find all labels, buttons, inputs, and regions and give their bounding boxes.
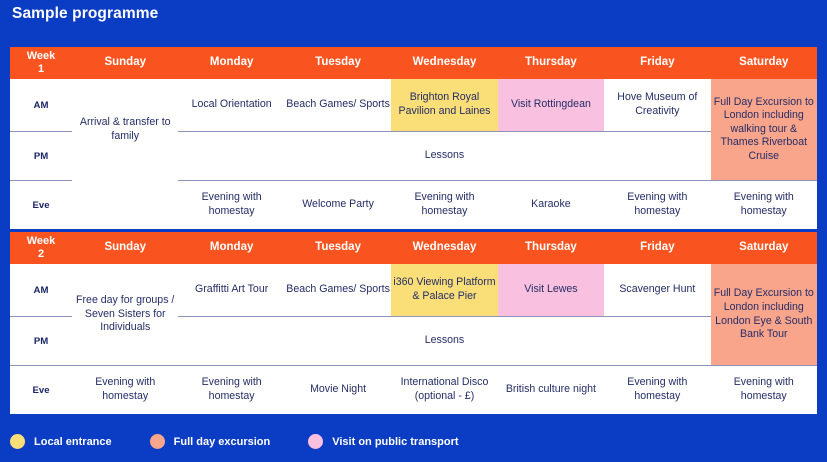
week1-slot-eve: Eve (10, 181, 72, 230)
week2-label-line1: Week (27, 235, 56, 247)
week1-slot-am: AM (10, 79, 72, 132)
week1-col-saturday: Saturday (711, 47, 817, 79)
week2-eve-sunday: Evening with homestay (72, 366, 178, 415)
week2-col-tuesday: Tuesday (285, 232, 391, 264)
week2-row-am: AM Free day for groups / Seven Sisters f… (10, 264, 817, 317)
week2-slot-pm: PM (10, 317, 72, 366)
week1-eve-thursday: Karaoke (498, 181, 604, 230)
week1-eve-wednesday: Evening with homestay (391, 181, 497, 230)
week2-col-sunday: Sunday (72, 232, 178, 264)
page-title: Sample programme (12, 5, 158, 23)
week2-am-thursday: Visit Lewes (498, 264, 604, 317)
week1-row-am: AM Arrival & transfer to family Local Or… (10, 79, 817, 132)
week1-label-line2: 1 (38, 63, 44, 75)
week2-col-wednesday: Wednesday (391, 232, 497, 264)
legend-dot-public-transport (308, 434, 323, 449)
week2-pm-lessons: Lessons (178, 317, 710, 366)
week1-am-tuesday: Beach Games/ Sports (285, 79, 391, 132)
week2-header-row: Week 2 Sunday Monday Tuesday Wednesday T… (10, 232, 817, 264)
week2-schedule-table: Week 2 Sunday Monday Tuesday Wednesday T… (10, 232, 817, 414)
week1-am-wednesday: Brighton Royal Pavilion and Laines (391, 79, 497, 132)
week1-col-tuesday: Tuesday (285, 47, 391, 79)
week2-slot-eve: Eve (10, 366, 72, 415)
week2-label-line2: 2 (38, 248, 44, 260)
week1-col-thursday: Thursday (498, 47, 604, 79)
week1-col-monday: Monday (178, 47, 284, 79)
week2-eve-saturday: Evening with homestay (711, 366, 817, 415)
week1-slot-pm: PM (10, 132, 72, 181)
week2-col-saturday: Saturday (711, 232, 817, 264)
legend-item-full-day-excursion: Full day excursion (150, 434, 271, 449)
week1-am-friday: Hove Museum of Creativity (604, 79, 710, 132)
week1-col-friday: Friday (604, 47, 710, 79)
week1-eve-friday: Evening with homestay (604, 181, 710, 230)
week1-am-saturday: Full Day Excursion to London including w… (711, 79, 817, 181)
legend-dot-local-entrance (10, 434, 25, 449)
week1-col-sunday: Sunday (72, 47, 178, 79)
week2-am-wednesday: i360 Viewing Platform & Palace Pier (391, 264, 497, 317)
programme-page: Sample programme Week 1 Sunday Monday Tu… (0, 0, 827, 462)
legend-label-local-entrance: Local entrance (34, 436, 112, 448)
week1-eve-sunday (72, 181, 178, 230)
week2-label: Week 2 (10, 232, 72, 264)
week1-eve-saturday: Evening with homestay (711, 181, 817, 230)
week2-am-monday: Graffitti Art Tour (178, 264, 284, 317)
week1-eve-monday: Evening with homestay (178, 181, 284, 230)
week1-col-wednesday: Wednesday (391, 47, 497, 79)
week2-eve-monday: Evening with homestay (178, 366, 284, 415)
week1-am-monday: Local Orientation (178, 79, 284, 132)
week1-eve-tuesday: Welcome Party (285, 181, 391, 230)
legend-label-full-day-excursion: Full day excursion (174, 436, 271, 448)
week2-col-thursday: Thursday (498, 232, 604, 264)
week1-am-sunday: Arrival & transfer to family (72, 79, 178, 181)
legend-item-public-transport: Visit on public transport (308, 434, 458, 449)
legend-label-public-transport: Visit on public transport (332, 436, 458, 448)
week1-header-row: Week 1 Sunday Monday Tuesday Wednesday T… (10, 47, 817, 79)
week2-am-friday: Scavenger Hunt (604, 264, 710, 317)
week1-row-eve: Eve Evening with homestay Welcome Party … (10, 181, 817, 230)
week2-am-saturday: Full Day Excursion to London including L… (711, 264, 817, 366)
legend: Local entrance Full day excursion Visit … (10, 434, 497, 449)
week1-label: Week 1 (10, 47, 72, 79)
week2-am-tuesday: Beach Games/ Sports (285, 264, 391, 317)
week2-row-eve: Eve Evening with homestay Evening with h… (10, 366, 817, 415)
week2-eve-wednesday: International Disco (optional - £) (391, 366, 497, 415)
week1-label-line1: Week (27, 50, 56, 62)
week2-eve-thursday: British culture night (498, 366, 604, 415)
week1-am-thursday: Visit Rottingdean (498, 79, 604, 132)
legend-item-local-entrance: Local entrance (10, 434, 112, 449)
week2-col-friday: Friday (604, 232, 710, 264)
week2-eve-friday: Evening with homestay (604, 366, 710, 415)
week2-am-sunday: Free day for groups / Seven Sisters for … (72, 264, 178, 366)
week2-slot-am: AM (10, 264, 72, 317)
week2-eve-tuesday: Movie Night (285, 366, 391, 415)
week1-pm-lessons: Lessons (178, 132, 710, 181)
week1-schedule-table: Week 1 Sunday Monday Tuesday Wednesday T… (10, 47, 817, 229)
week2-col-monday: Monday (178, 232, 284, 264)
legend-dot-full-day-excursion (150, 434, 165, 449)
